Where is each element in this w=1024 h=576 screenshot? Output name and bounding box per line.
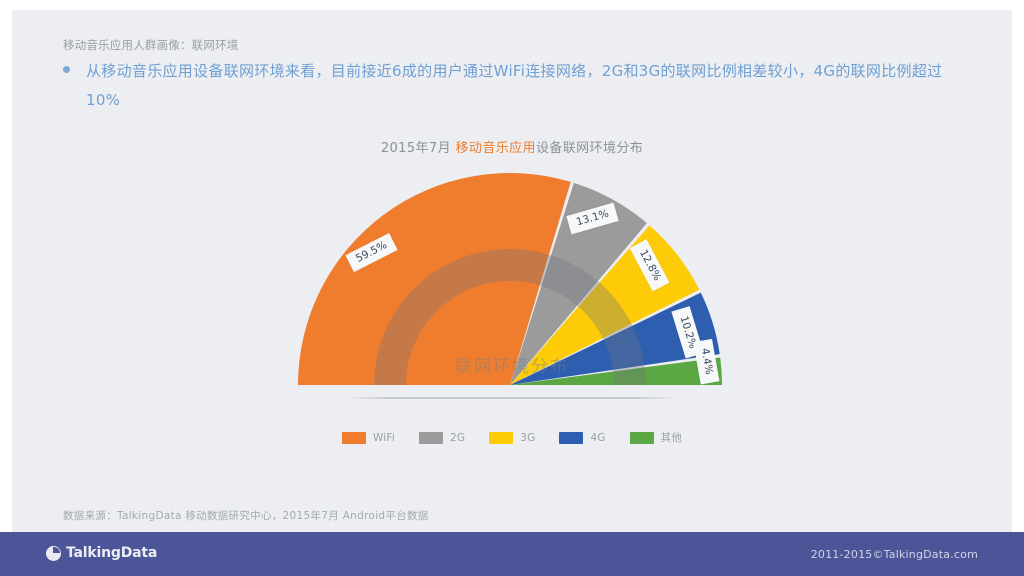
legend-item-其他[interactable]: 其他 [630, 430, 682, 445]
baseline-rule [347, 397, 677, 399]
legend-label: 3G [520, 432, 535, 444]
source-note: 数据来源：TalkingData 移动数据研究中心，2015年7月 Androi… [63, 508, 429, 523]
chart-title: 2015年7月 移动音乐应用设备联网环境分布 [0, 137, 1024, 156]
footer-bar: TalkingData 2011-2015©TalkingData.com [0, 532, 1024, 576]
chart-title-highlight: 移动音乐应用 [456, 141, 536, 156]
legend-item-wifi[interactable]: WiFi [342, 430, 395, 445]
legend-item-4g[interactable]: 4G [559, 430, 605, 445]
brand-logo: TalkingData [46, 545, 157, 561]
legend-swatch-icon [342, 432, 366, 444]
talkingdata-logo-icon [46, 546, 61, 561]
slide-root: 移动音乐应用人群画像：联网环境 从移动音乐应用设备联网环境来看，目前接近6成的用… [0, 0, 1024, 576]
legend-swatch-icon [419, 432, 443, 444]
legend-label: 其他 [661, 430, 682, 445]
legend-label: 2G [450, 432, 465, 444]
legend-swatch-icon [630, 432, 654, 444]
legend-swatch-icon [559, 432, 583, 444]
chart-title-suffix: 设备联网环境分布 [536, 141, 643, 156]
brand-logo-text: TalkingData [66, 545, 157, 561]
legend-swatch-icon [489, 432, 513, 444]
copyright-text: 2011-2015©TalkingData.com [811, 548, 978, 561]
bullet-text: 从移动音乐应用设备联网环境来看，目前接近6成的用户通过WiFi连接网络，2G和3… [86, 57, 963, 115]
slide-kicker: 移动音乐应用人群画像：联网环境 [63, 37, 239, 53]
bullet-dot-icon [63, 66, 70, 73]
chart-title-prefix: 2015年7月 [381, 141, 456, 156]
legend-label: WiFi [373, 432, 395, 444]
chart-legend: WiFi2G3G4G其他 [0, 430, 1024, 445]
bullet-row: 从移动音乐应用设备联网环境来看，目前接近6成的用户通过WiFi连接网络，2G和3… [63, 57, 963, 115]
legend-item-2g[interactable]: 2G [419, 430, 465, 445]
legend-item-3g[interactable]: 3G [489, 430, 535, 445]
legend-label: 4G [590, 432, 605, 444]
